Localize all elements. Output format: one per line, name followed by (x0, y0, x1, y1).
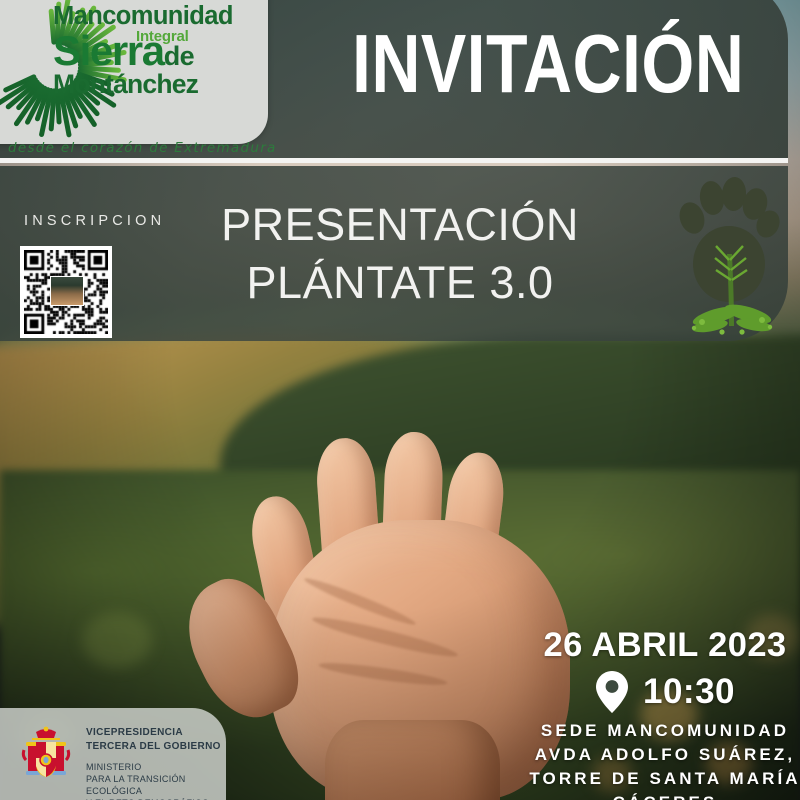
address-line: TORRE DE SANTA MARÍA (520, 767, 800, 791)
headline-line-2: PLÁNTATE 3.0 (150, 254, 650, 312)
address-line: SEDE MANCOMUNIDAD (520, 719, 800, 743)
ministry-line-3: MINISTERIO (86, 761, 226, 773)
ministry-line-2: TERCERA DEL GOBIERNO (86, 740, 226, 754)
brand-line-3: Montánchez (53, 71, 258, 98)
address-line: CÁCERES (520, 791, 800, 800)
ministry-text: VICEPRESIDENCIA TERCERA DEL GOBIERNO MIN… (86, 726, 226, 800)
map-pin-icon (595, 669, 629, 715)
paw-svg (672, 176, 790, 338)
event-address: SEDE MANCOMUNIDAD AVDA ADOLFO SUÁREZ, TO… (520, 719, 800, 800)
paw-print-with-fern-icon (672, 176, 790, 338)
brand-wordmark: Mancomunidad Sierrade Montánchez (53, 4, 258, 97)
event-time: 10:30 (643, 672, 735, 712)
ministry-line-4: PARA LA TRANSICIÓN ECOLÓGICA (86, 773, 226, 797)
address-line: AVDA ADOLFO SUÁREZ, (520, 743, 800, 767)
spacer (86, 753, 226, 761)
qr-center-thumbnail (50, 276, 84, 306)
mancomunidad-logo-card: Mancomunidad Sierrade Montánchez Integra… (0, 0, 268, 144)
event-time-row: 10:30 (520, 669, 800, 715)
white-divider-line (0, 158, 788, 163)
inscription-label: INSCRIPCION (24, 213, 165, 229)
headline-line-1: PRESENTACIÓN (150, 196, 650, 254)
page-title: INVITACIÓN (352, 16, 744, 112)
brand-tagline: desde el corazón de Extremadura (8, 140, 288, 156)
event-date: 26 ABRIL 2023 (520, 626, 800, 665)
ministry-line-1: VICEPRESIDENCIA (86, 726, 226, 740)
headline-block: PRESENTACIÓN PLÁNTATE 3.0 (150, 196, 650, 311)
qr-code[interactable] (20, 246, 112, 338)
spain-coat-of-arms-icon (20, 724, 72, 784)
event-details-block: 26 ABRIL 2023 10:30 SEDE MANCOMUNIDAD AV… (520, 626, 800, 800)
brand-integral-badge: Integral (136, 28, 189, 45)
brand-de: de (164, 41, 194, 71)
ministry-logo-card: VICEPRESIDENCIA TERCERA DEL GOBIERNO MIN… (0, 708, 226, 800)
invitation-poster: INVITACIÓN PRESENTACIÓN PLÁNTATE 3.0 Man… (0, 0, 800, 800)
